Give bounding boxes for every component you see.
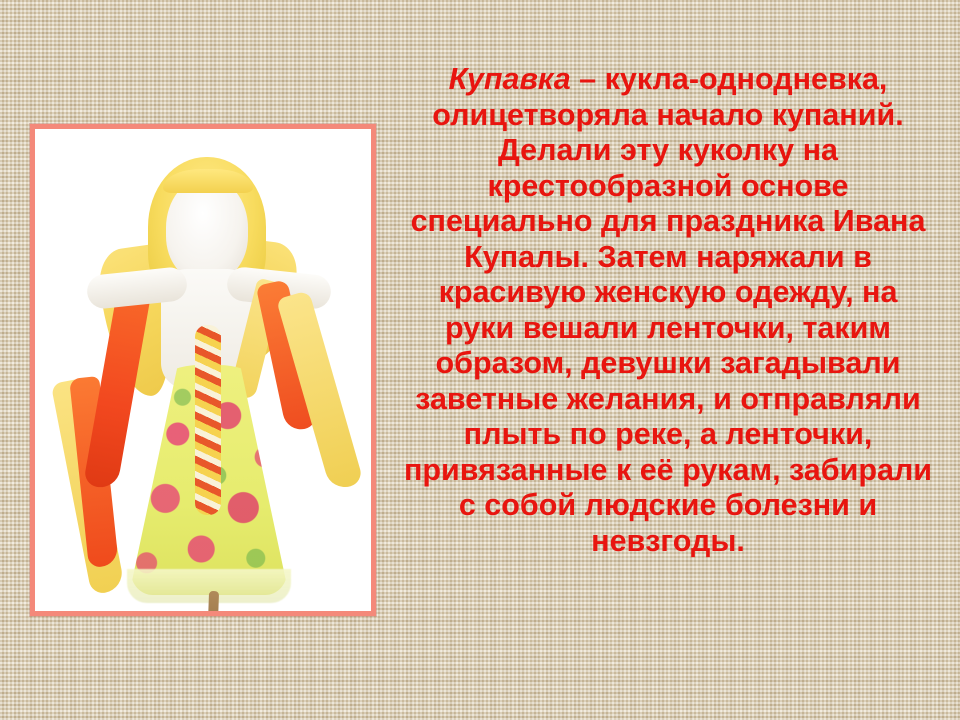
slide-canvas: Купавка – кукла-однодневка, олицетворяла… [0, 0, 960, 720]
caption-text-block: Купавка – кукла-однодневка, олицетворяла… [400, 62, 936, 559]
caption-paragraph: Купавка – кукла-однодневка, олицетворяла… [400, 62, 936, 559]
caption-body-text: – кукла-однодневка, олицетворяла начало … [404, 62, 932, 558]
kupavka-doll-photo [35, 129, 371, 611]
headband-shape [163, 169, 253, 193]
caption-lead-word: Купавка [449, 62, 571, 96]
photo-frame [30, 124, 376, 616]
braided-belt-shape [195, 325, 221, 515]
